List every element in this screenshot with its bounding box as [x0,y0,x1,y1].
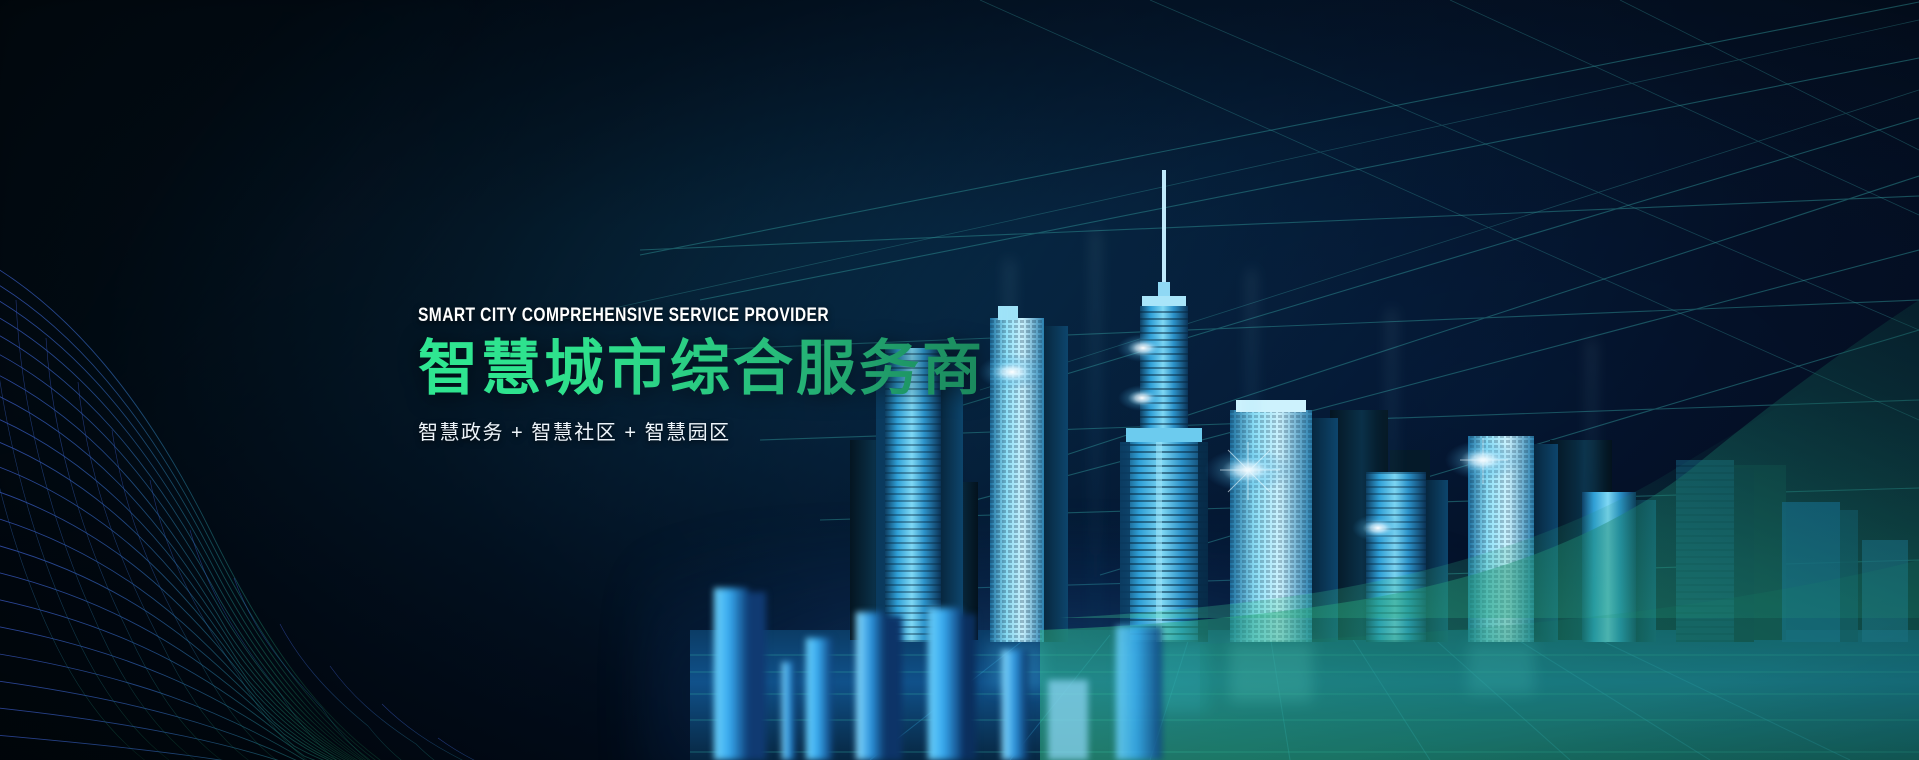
hero-text-block: SMART CITY COMPREHENSIVE SERVICE PROVIDE… [418,305,1058,445]
hero-eyebrow-english: SMART CITY COMPREHENSIVE SERVICE PROVIDE… [418,305,943,327]
far-right-slabs [1782,502,1908,642]
foreground-blurred-bars [690,530,1210,760]
hero-subline-chinese: 智慧政务 + 智慧社区 + 智慧园区 [418,416,1058,445]
smart-city-hero-banner: SMART CITY COMPREHENSIVE SERVICE PROVIDE… [0,0,1919,760]
bright-glass-tower [1230,400,1338,642]
hero-headline-chinese: 智慧城市综合服务商 [418,335,1058,402]
